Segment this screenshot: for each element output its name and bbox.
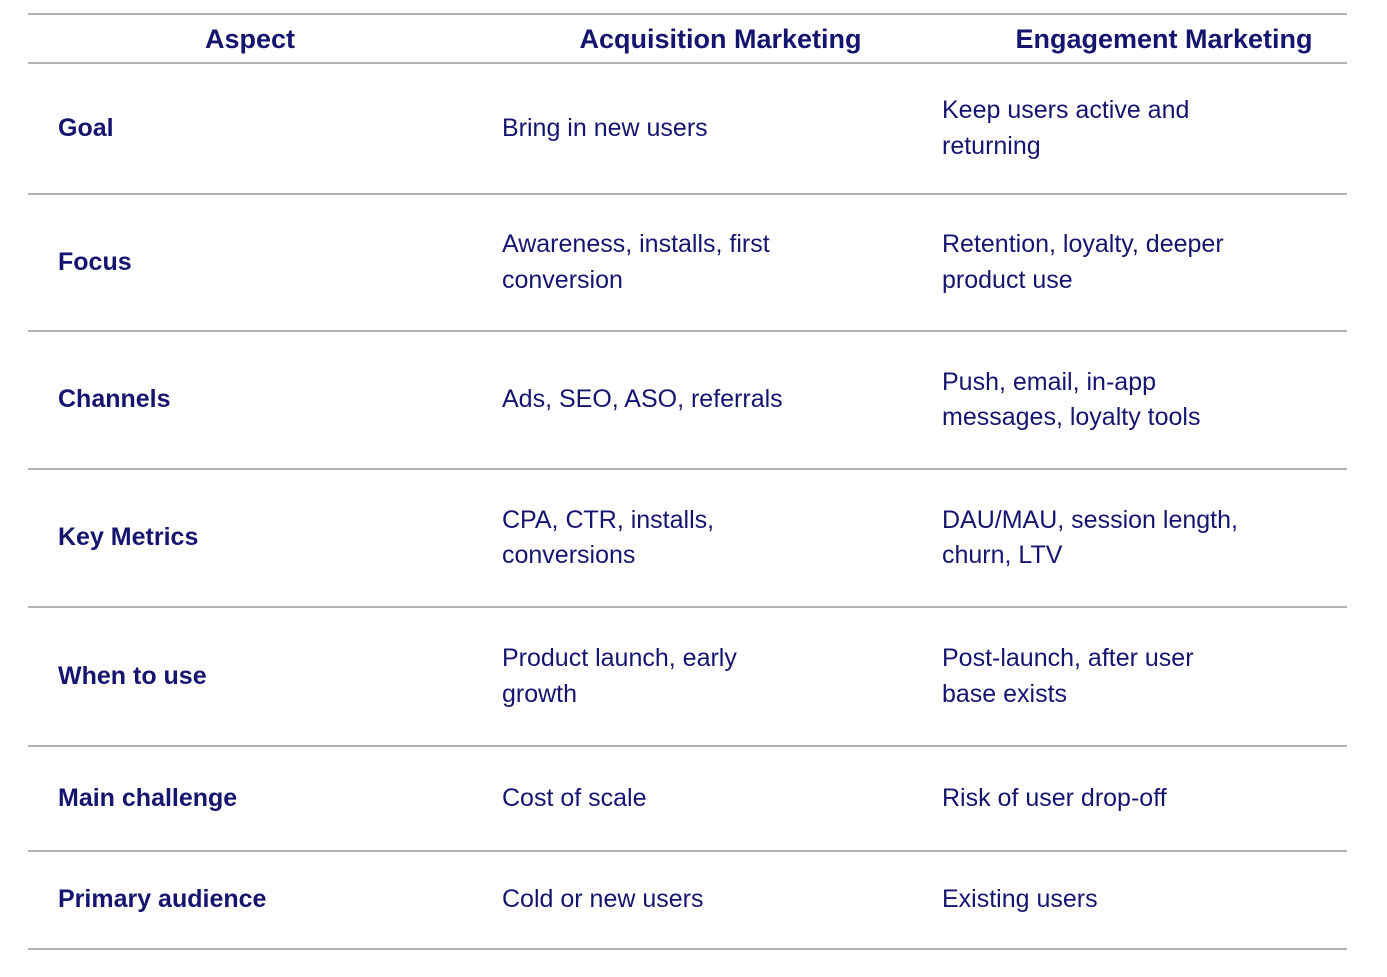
table-rule-bottom bbox=[28, 948, 1347, 950]
table-row: Channels Ads, SEO, ASO, referrals Push, … bbox=[0, 332, 1387, 468]
cell-engagement-channels: Push, email, in-app messages, loyalty to… bbox=[941, 365, 1387, 436]
row-label-primary-audience: Primary audience bbox=[0, 882, 500, 918]
row-label-main-challenge: Main challenge bbox=[0, 781, 500, 817]
cell-engagement-primary-audience: Existing users bbox=[941, 882, 1387, 918]
column-header-engagement: Engagement Marketing bbox=[941, 20, 1387, 58]
row-label-key-metrics: Key Metrics bbox=[0, 520, 500, 556]
row-label-goal: Goal bbox=[0, 111, 500, 147]
cell-engagement-when-to-use: Post-launch, after user base exists bbox=[941, 641, 1387, 712]
table-row: When to use Product launch, early growth… bbox=[0, 608, 1387, 745]
comparison-table: Aspect Acquisition Marketing Engagement … bbox=[0, 0, 1387, 977]
table-row: Focus Awareness, installs, first convers… bbox=[0, 195, 1387, 330]
table-row: Main challenge Cost of scale Risk of use… bbox=[0, 747, 1387, 850]
row-label-focus: Focus bbox=[0, 245, 500, 281]
cell-acquisition-channels: Ads, SEO, ASO, referrals bbox=[500, 382, 941, 418]
row-label-channels: Channels bbox=[0, 382, 500, 418]
table-row: Key Metrics CPA, CTR, installs, conversi… bbox=[0, 470, 1387, 606]
cell-acquisition-main-challenge: Cost of scale bbox=[500, 781, 941, 817]
row-label-when-to-use: When to use bbox=[0, 659, 500, 695]
cell-acquisition-primary-audience: Cold or new users bbox=[500, 882, 941, 918]
cell-engagement-main-challenge: Risk of user drop-off bbox=[941, 781, 1387, 817]
cell-acquisition-goal: Bring in new users bbox=[500, 111, 941, 147]
table-row: Goal Bring in new users Keep users activ… bbox=[0, 64, 1387, 193]
cell-acquisition-key-metrics: CPA, CTR, installs, conversions bbox=[500, 503, 941, 574]
table-row: Primary audience Cold or new users Exist… bbox=[0, 852, 1387, 948]
cell-acquisition-when-to-use: Product launch, early growth bbox=[500, 641, 941, 712]
cell-engagement-key-metrics: DAU/MAU, session length, churn, LTV bbox=[941, 503, 1387, 574]
cell-acquisition-focus: Awareness, installs, first conversion bbox=[500, 227, 941, 298]
cell-engagement-focus: Retention, loyalty, deeper product use bbox=[941, 227, 1387, 298]
table-rule-top bbox=[28, 13, 1347, 15]
cell-engagement-goal: Keep users active and returning bbox=[941, 93, 1387, 164]
column-header-aspect: Aspect bbox=[0, 20, 500, 58]
table-header-row: Aspect Acquisition Marketing Engagement … bbox=[0, 16, 1387, 62]
column-header-acquisition: Acquisition Marketing bbox=[500, 20, 941, 58]
